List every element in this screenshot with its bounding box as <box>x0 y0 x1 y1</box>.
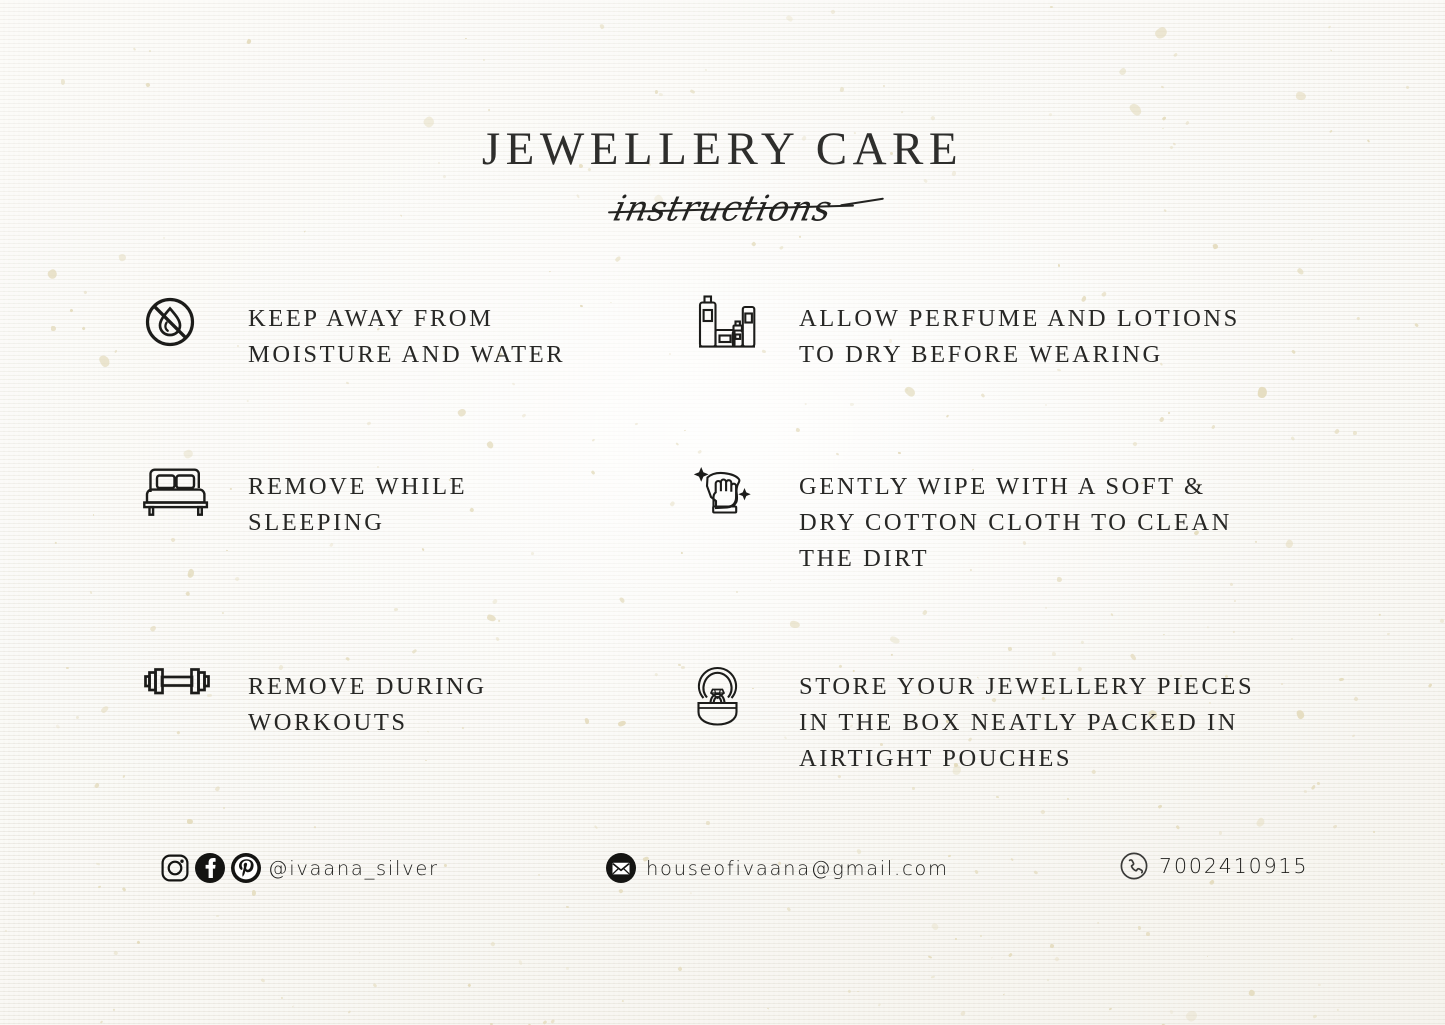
instruction-line: TO DRY BEFORE WEARING <box>799 337 1240 373</box>
instruction-line: KEEP AWAY FROM <box>248 301 565 337</box>
email-address: houseofivaana@gmail.com <box>646 857 949 880</box>
instruction-line: MOISTURE AND WATER <box>248 337 565 373</box>
instruction-item-store-jewellery-in-box: STORE YOUR JEWELLERY PIECES IN THE BOX N… <box>685 660 1302 780</box>
instructions-row: REMOVE DURING WORKOUTS <box>142 660 1302 780</box>
pinterest-icon[interactable] <box>230 852 262 884</box>
footer-social-group: @ivaana_silver <box>160 852 439 884</box>
instruction-text: REMOVE DURING WORKOUTS <box>214 660 487 741</box>
instructions-row: REMOVE WHILE SLEEPING <box>142 460 1302 660</box>
instruction-item-gently-wipe-with-cloth: GENTLY WIPE WITH A SOFT & DRY COTTON CLO… <box>685 460 1302 660</box>
instruction-item-remove-while-sleeping: REMOVE WHILE SLEEPING <box>142 460 685 660</box>
phone-icon[interactable] <box>1120 852 1148 880</box>
page-title: JEWELLERY CARE <box>0 126 1445 173</box>
instruction-text: GENTLY WIPE WITH A SOFT & DRY COTTON CLO… <box>757 460 1232 577</box>
instruction-line: ALLOW PERFUME AND LOTIONS <box>799 301 1240 337</box>
instructions-row: KEEP AWAY FROM MOISTURE AND WATER <box>142 292 1302 460</box>
instruction-line: GENTLY WIPE WITH A SOFT & <box>799 469 1232 505</box>
footer-phone-group: 7002410915 <box>1120 852 1308 880</box>
instruction-line: REMOVE WHILE <box>248 469 467 505</box>
card-header: JEWELLERY CARE instructions <box>0 126 1445 239</box>
instagram-handle: @ivaana_silver <box>268 857 439 880</box>
envelope-icon[interactable] <box>605 852 637 884</box>
instruction-line: STORE YOUR JEWELLERY PIECES <box>799 669 1254 705</box>
phone-number: 7002410915 <box>1159 854 1308 878</box>
instruction-line: IN THE BOX NEATLY PACKED IN <box>799 705 1254 741</box>
jewellery-care-card: JEWELLERY CARE instructions KE <box>0 0 1445 1025</box>
subtitle-wrapper: instructions <box>614 187 831 239</box>
instruction-text: REMOVE WHILE SLEEPING <box>214 460 467 541</box>
instruction-line: THE DIRT <box>799 541 1232 577</box>
instruction-line: AIRTIGHT POUCHES <box>799 741 1254 777</box>
instagram-icon[interactable] <box>160 853 190 883</box>
no-water-drop-icon <box>142 292 214 350</box>
instruction-line: WORKOUTS <box>248 705 487 741</box>
footer-contact-bar: @ivaana_silver houseofivaana@gmail.com <box>160 852 1295 896</box>
dumbbell-icon <box>142 660 214 702</box>
instruction-line: DRY COTTON CLOTH TO CLEAN <box>799 505 1232 541</box>
instruction-line: SLEEPING <box>248 505 467 541</box>
instruction-item-keep-away-from-moisture: KEEP AWAY FROM MOISTURE AND WATER <box>142 292 685 460</box>
instruction-item-remove-during-workouts: REMOVE DURING WORKOUTS <box>142 660 685 780</box>
instruction-item-allow-perfume-to-dry: ALLOW PERFUME AND LOTIONS TO DRY BEFORE … <box>685 292 1302 460</box>
instruction-text: STORE YOUR JEWELLERY PIECES IN THE BOX N… <box>757 660 1254 777</box>
bed-icon <box>142 460 214 518</box>
instructions-grid: KEEP AWAY FROM MOISTURE AND WATER <box>142 292 1302 780</box>
cosmetics-bottles-icon <box>685 292 757 358</box>
footer-email-group: houseofivaana@gmail.com <box>605 852 949 884</box>
subtitle-flourish-tail <box>840 198 884 206</box>
instruction-text: ALLOW PERFUME AND LOTIONS TO DRY BEFORE … <box>757 292 1240 373</box>
instruction-text: KEEP AWAY FROM MOISTURE AND WATER <box>214 292 565 373</box>
ring-box-icon <box>685 660 757 728</box>
instruction-line: REMOVE DURING <box>248 669 487 705</box>
facebook-icon[interactable] <box>194 852 226 884</box>
hand-with-cloth-sparkle-icon <box>685 460 757 524</box>
